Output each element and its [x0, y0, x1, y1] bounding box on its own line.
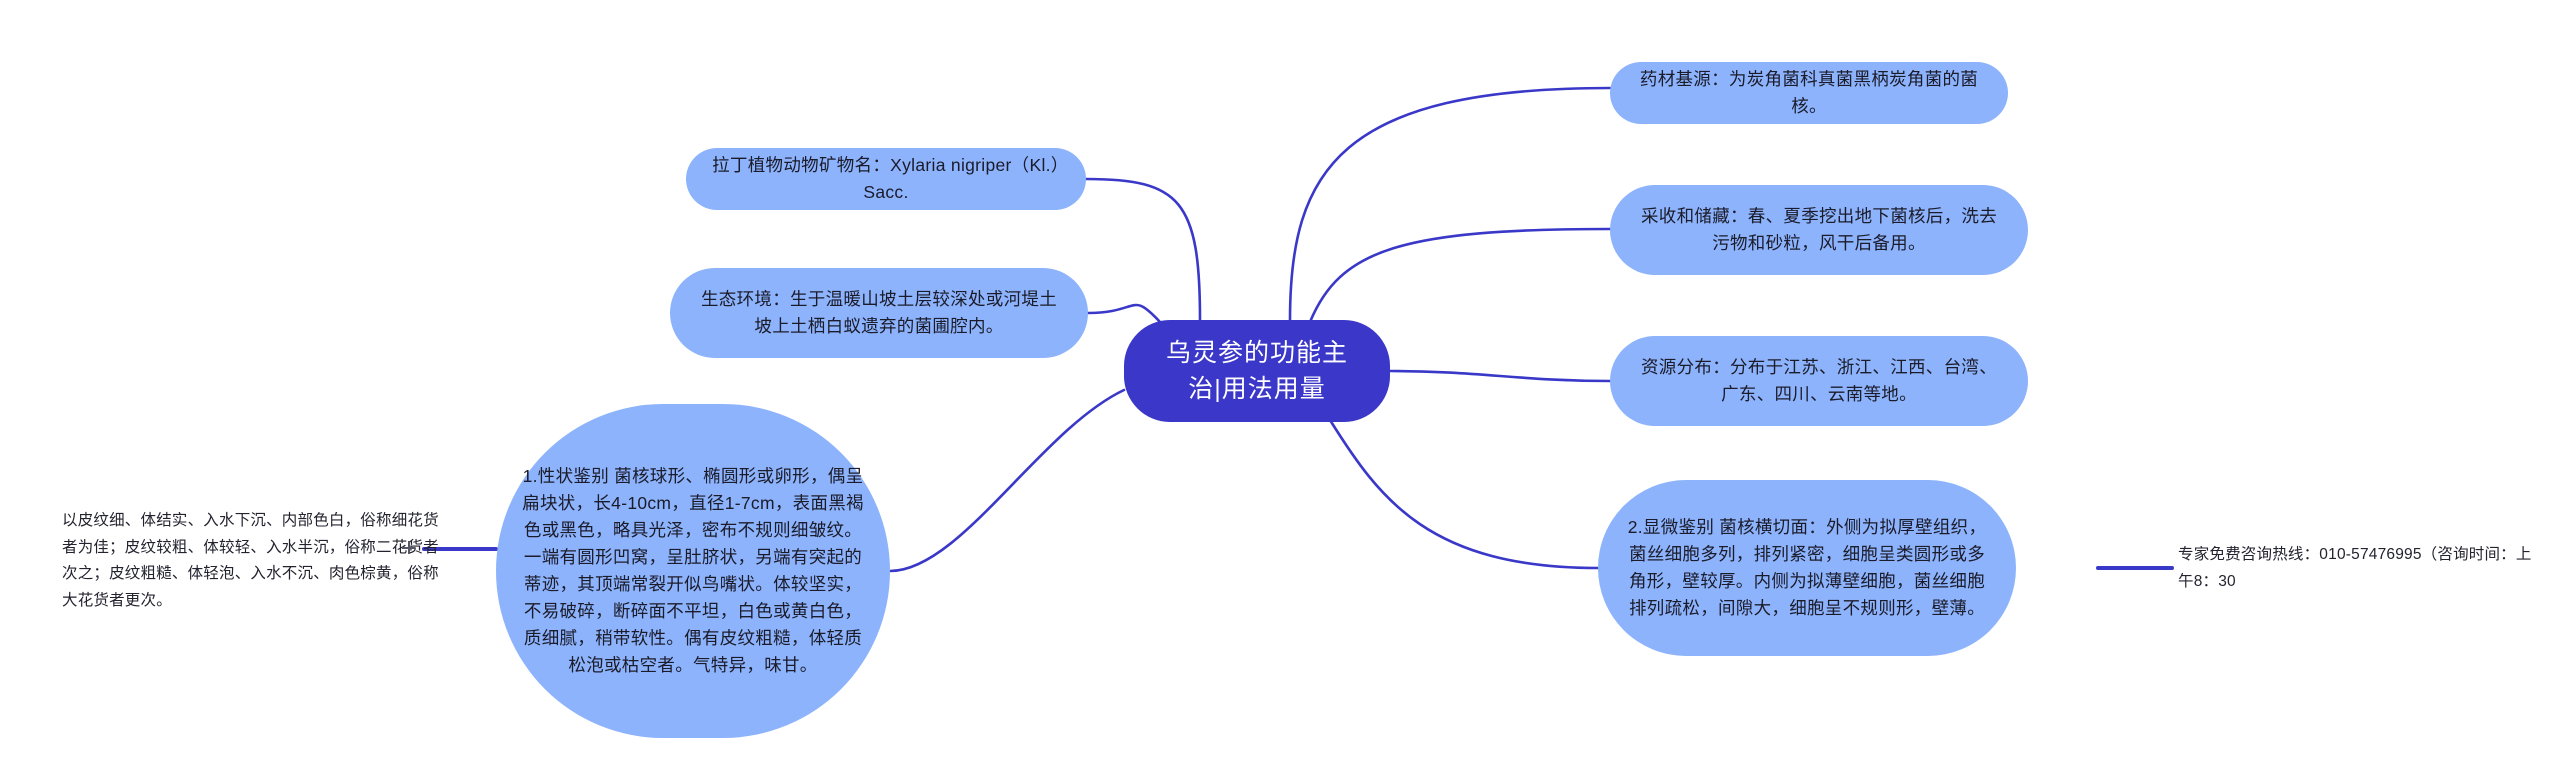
node-shape-identification-label: 1.性状鉴别 菌核球形、椭圆形或卵形，偶呈扁块状，长4-10cm，直径1-7cm… — [496, 463, 890, 680]
edge-root-harvest — [1310, 229, 1610, 322]
node-medicinal-source[interactable]: 药材基源：为炭角菌科真菌黑柄炭角菌的菌核。 — [1610, 62, 2008, 124]
right-annotation-text: 专家免费咨询热线：010-57476995（咨询时间：上午8：30 — [2178, 542, 2544, 595]
edge-root-source — [1290, 88, 1610, 320]
node-resource-distribution[interactable]: 资源分布：分布于江苏、浙江、江西、台湾、广东、四川、云南等地。 — [1610, 336, 2028, 426]
node-microscopic-identification[interactable]: 2.显微鉴别 菌核横切面：外侧为拟厚壁组织，菌丝细胞多列，排列紧密，细胞呈类圆形… — [1598, 480, 2016, 656]
plus-icon[interactable] — [402, 541, 415, 554]
root-node[interactable]: 乌灵参的功能主治|用法用量 — [1124, 320, 1390, 422]
edge-root-ecology — [1088, 305, 1160, 322]
node-ecology-label: 生态环境：生于温暖山坡土层较深处或河堤土坡上土栖白蚁遗弃的菌圃腔内。 — [670, 286, 1088, 340]
node-latin-name-label: 拉丁植物动物矿物名：Xylaria nigriper（Kl.）Sacc. — [686, 152, 1086, 206]
edge-root-shape — [890, 390, 1124, 571]
node-harvest-storage[interactable]: 采收和储藏：春、夏季挖出地下菌核后，洗去污物和砂粒，风干后备用。 — [1610, 185, 2028, 275]
node-resource-distribution-label: 资源分布：分布于江苏、浙江、江西、台湾、广东、四川、云南等地。 — [1610, 354, 2028, 408]
edge-root-micro — [1330, 420, 1598, 568]
node-ecology[interactable]: 生态环境：生于温暖山坡土层较深处或河堤土坡上土栖白蚁遗弃的菌圃腔内。 — [670, 268, 1088, 358]
node-medicinal-source-label: 药材基源：为炭角菌科真菌黑柄炭角菌的菌核。 — [1610, 66, 2008, 120]
node-shape-identification[interactable]: 1.性状鉴别 菌核球形、椭圆形或卵形，偶呈扁块状，长4-10cm，直径1-7cm… — [496, 404, 890, 738]
edge-root-latin — [1086, 179, 1200, 320]
root-node-label: 乌灵参的功能主治|用法用量 — [1124, 335, 1390, 408]
edge-root-dist — [1390, 371, 1610, 381]
node-microscopic-identification-label: 2.显微鉴别 菌核横切面：外侧为拟厚壁组织，菌丝细胞多列，排列紧密，细胞呈类圆形… — [1598, 514, 2016, 623]
node-latin-name[interactable]: 拉丁植物动物矿物名：Xylaria nigriper（Kl.）Sacc. — [686, 148, 1086, 210]
node-harvest-storage-label: 采收和储藏：春、夏季挖出地下菌核后，洗去污物和砂粒，风干后备用。 — [1610, 203, 2028, 257]
left-annotation-text: 以皮纹细、体结实、入水下沉、内部色白，俗称细花货者为佳；皮纹较粗、体较轻、入水半… — [62, 508, 442, 615]
mindmap-canvas: 乌灵参的功能主治|用法用量 拉丁植物动物矿物名：Xylaria nigriper… — [0, 0, 2560, 775]
